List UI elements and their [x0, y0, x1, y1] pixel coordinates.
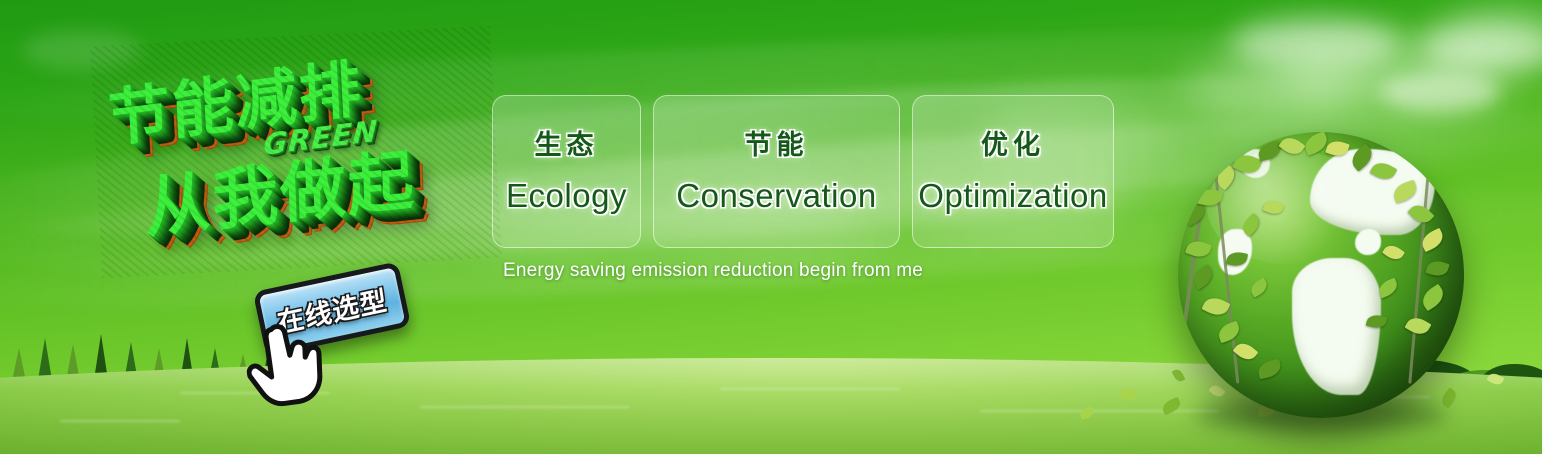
feature-cards: 生态 Ecology 节能 Conservation 优化 Optimizati… — [492, 95, 1114, 248]
feature-card-optimization[interactable]: 优化 Optimization — [912, 95, 1114, 248]
feature-card-en-label: Conservation — [676, 179, 876, 212]
feature-card-conservation[interactable]: 节能 Conservation — [653, 95, 900, 248]
feature-card-ecology[interactable]: 生态 Ecology — [492, 95, 641, 248]
online-selection-label: 在线选型 — [275, 278, 390, 340]
feature-card-cn-label: 优化 — [981, 132, 1045, 159]
feature-card-en-label: Optimization — [918, 179, 1107, 212]
eco-hero-banner: 节能减排 GREEN 从我做起 在线选型 — [0, 0, 1542, 454]
leafy-earth-globe — [1178, 132, 1464, 418]
continent-south-america — [1292, 258, 1381, 395]
globe-sphere — [1178, 132, 1464, 418]
hero-title-3d-art: 节能减排 GREEN 从我做起 — [90, 26, 502, 279]
continent-blob — [1355, 229, 1381, 255]
feature-card-cn-label: 生态 — [535, 132, 599, 159]
feature-card-en-label: Ecology — [506, 179, 627, 212]
feature-card-cn-label: 节能 — [745, 132, 809, 159]
banner-subtitle: Energy saving emission reduction begin f… — [503, 260, 923, 282]
